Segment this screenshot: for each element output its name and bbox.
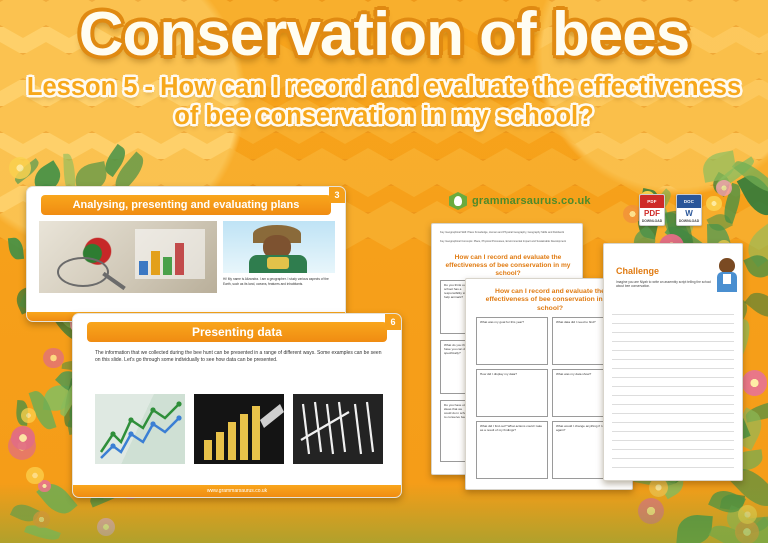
honeycomb-cell: [529, 159, 575, 186]
slide-3-heading: Analysing, presenting and evaluating pla…: [41, 195, 331, 215]
download-pdf-badge[interactable]: PDF PDF DOWNLOAD: [639, 194, 665, 226]
honeycomb-cell: [391, 159, 437, 186]
challenge-subtitle: Imagine you are Niyah to write an assemb…: [616, 280, 712, 288]
leaf-shape: [745, 287, 768, 323]
flower-shape: [21, 408, 36, 423]
writing-line: [612, 413, 734, 414]
honeycomb-cell: [368, 212, 414, 239]
brand-logo: grammarsaurus.co.uk: [449, 192, 591, 210]
slide-3-body: Hi! My name is Alizandra. I am a geograp…: [223, 277, 335, 286]
honeycomb-cell: [437, 159, 483, 186]
flower-shape: [9, 157, 31, 179]
writing-line: [612, 377, 734, 378]
slide-6-number: 6: [385, 314, 401, 330]
honeycomb-cell: [575, 159, 621, 186]
leaf-shape: [9, 237, 25, 261]
flower-shape: [706, 196, 721, 211]
line-graph-icon: [95, 394, 185, 464]
pdf-badge-label: PDF: [640, 195, 664, 208]
poster-stage: Conservation of bees Lesson 5 - How can …: [0, 0, 768, 543]
writing-line: [612, 368, 734, 369]
pdf-badge-type: PDF: [640, 208, 664, 219]
slide-6-heading: Presenting data: [87, 322, 387, 342]
slide-6-body: The information that we collected during…: [95, 350, 383, 365]
honeycomb-cell: [253, 159, 299, 186]
challenge-title: Challenge: [616, 266, 659, 276]
writing-line: [612, 440, 734, 441]
page-subtitle: Lesson 5 - How can I record and evaluate…: [13, 73, 755, 132]
slide-card-analysing[interactable]: Analysing, presenting and evaluating pla…: [26, 186, 346, 322]
slide-card-presenting[interactable]: Presenting data 6 The information that w…: [72, 313, 402, 498]
slide-6-footer: www.grammarsaurus.co.uk: [73, 485, 401, 497]
slide-3-number: 3: [329, 187, 345, 203]
flower-shape: [26, 467, 43, 484]
worksheet-back-meta-2: Key Geographical Concepts: Place, Physic…: [440, 240, 576, 244]
honeycomb-cell: [345, 159, 391, 186]
honeycomb-cell: [483, 159, 529, 186]
photo-data-charts: [39, 221, 217, 293]
worksheet-front-cell-5[interactable]: What did I find out? What actions could …: [476, 421, 548, 479]
writing-line: [612, 350, 734, 351]
writing-line: [612, 314, 734, 315]
writing-line: [612, 359, 734, 360]
writing-line: [612, 404, 734, 405]
student-illustration: [714, 258, 740, 298]
download-doc-badge[interactable]: DOC W DOWNLOAD: [676, 194, 702, 226]
writing-line: [612, 386, 734, 387]
writing-line: [612, 422, 734, 423]
grammarsaurus-hex-icon: [449, 192, 467, 210]
tally-marks-icon: [293, 394, 383, 464]
title-block: Conservation of bees Lesson 5 - How can …: [0, 4, 768, 132]
brand-name: grammarsaurus.co.uk: [472, 195, 591, 207]
doc-badge-type: W: [677, 208, 701, 219]
doc-badge-caption: DOWNLOAD: [677, 219, 701, 223]
honeycomb-cell: [161, 159, 207, 186]
photo-chalkboard-tally: [293, 394, 383, 464]
photo-geographer-illustration: [223, 221, 335, 273]
worksheet-back-meta-1: Key Geographical Skill: Place Knowledge,…: [440, 231, 576, 235]
writing-line: [612, 431, 734, 432]
flower-shape: [11, 426, 35, 450]
writing-line: [612, 323, 734, 324]
page-title: Conservation of bees: [0, 4, 768, 66]
worksheet-front-title: How can I record and evaluate the effect…: [476, 288, 624, 313]
writing-line: [612, 449, 734, 450]
writing-line: [612, 332, 734, 333]
honeycomb-cell: [207, 159, 253, 186]
pdf-badge-caption: DOWNLOAD: [640, 219, 664, 223]
doc-badge-label: DOC: [677, 195, 701, 208]
photo-line-graph: [95, 394, 185, 464]
worksheet-back-title: How can I record and evaluate the effect…: [441, 254, 575, 279]
worksheet-front-cell-3[interactable]: How did I display my data?: [476, 369, 548, 417]
writing-line: [612, 395, 734, 396]
bar-chart-icon: [194, 394, 284, 464]
flower-shape: [742, 370, 767, 395]
writing-line: [612, 467, 734, 468]
worksheet-front-cell-3-label: How did I display my data?: [477, 370, 547, 378]
worksheet-front-cell-1[interactable]: What was my goal for this year?: [476, 317, 548, 365]
flower-shape: [43, 348, 63, 368]
writing-line: [612, 458, 734, 459]
photo-bar-chart: [194, 394, 284, 464]
worksheet-front-cell-5-label: What did I find out? What actions could …: [477, 422, 547, 434]
worksheet-front-cell-1-label: What was my goal for this year?: [477, 318, 547, 326]
honeycomb-cell: [299, 159, 345, 186]
writing-line: [612, 341, 734, 342]
challenge-page[interactable]: Challenge Imagine you are Niyah to write…: [603, 243, 743, 481]
